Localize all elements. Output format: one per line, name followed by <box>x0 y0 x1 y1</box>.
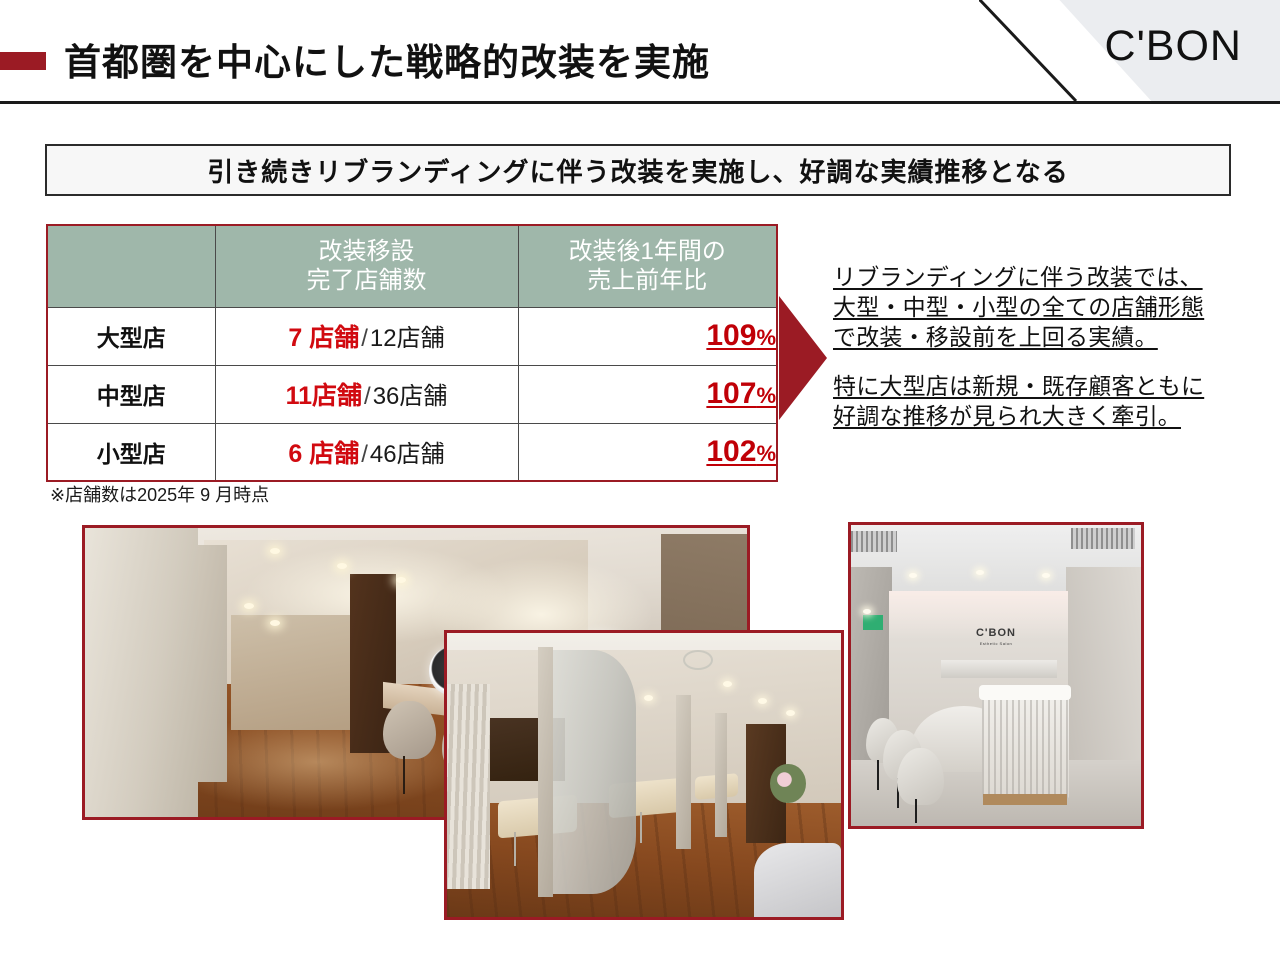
annotation-p2-line2: 好調な推移が見られ大きく牽引。 <box>833 402 1245 432</box>
table-row: 小型店 6 店舗/46店舗 102% <box>47 423 777 481</box>
table-header-blank <box>47 225 215 307</box>
photo-treatment-room-partitions <box>444 630 844 920</box>
annotation-p1-line1: リブランディングに伴う改装では、 <box>833 263 1245 293</box>
bed-leg <box>514 832 516 866</box>
completed-count: 7 店舗 <box>288 324 359 352</box>
completed-count: 11店舗 <box>286 382 362 410</box>
ceiling-light <box>786 710 795 716</box>
total-count: 46店舗 <box>370 441 445 468</box>
count-separator: / <box>362 383 373 410</box>
photo-scene <box>447 633 841 917</box>
yoy-value: 102% <box>706 440 776 466</box>
header-divider <box>0 101 1280 104</box>
partition-column <box>715 713 727 838</box>
row-count-small: 6 店舗/46店舗 <box>215 423 518 481</box>
cbon-logo: C'BON <box>1105 22 1242 71</box>
table-header-completed-stores: 改装移設 完了店舗数 <box>215 225 518 307</box>
row-label-medium: 中型店 <box>47 365 215 423</box>
table-row: 中型店 11店舗/36店舗 107% <box>47 365 777 423</box>
annotation-p2-line1: 特に大型店は新規・既存顧客ともに <box>833 372 1245 402</box>
yoy-value: 109% <box>706 324 776 350</box>
right-arrow-icon <box>779 296 827 420</box>
window-curtain <box>447 684 490 888</box>
header-line-1: 改装移設 <box>216 237 518 266</box>
row-label-small: 小型店 <box>47 423 215 481</box>
row-label-large: 大型店 <box>47 307 215 365</box>
ceiling-vent <box>851 531 897 552</box>
logo-panel-diagonal-edge <box>979 0 1079 103</box>
wall-logo-subtext: Esthetic Salon <box>976 641 1016 646</box>
header-line-2: 完了店舗数 <box>216 266 518 295</box>
store-renovation-table: 改装移設 完了店舗数 改装後1年間の 売上前年比 大型店 7 店舗/12店舗 1… <box>46 224 778 482</box>
row-pct-medium: 107% <box>518 365 777 423</box>
total-count: 12店舗 <box>370 325 445 352</box>
chair-leg <box>915 799 917 823</box>
ceiling-light <box>337 563 347 569</box>
row-pct-large: 109% <box>518 307 777 365</box>
reception-desk <box>982 688 1069 799</box>
annotation-block: リブランディングに伴う改装では、 大型・中型・小型の全ての店舗形態 で改装・移設… <box>833 263 1245 431</box>
salon-chair <box>383 701 436 759</box>
slide-header: C'BON 首都圏を中心にした戦略的改装を実施 <box>0 0 1280 104</box>
bed-leg <box>640 812 642 843</box>
table-header-yoy-sales: 改装後1年間の 売上前年比 <box>518 225 777 307</box>
count-separator: / <box>359 325 370 352</box>
mid-pillar <box>198 545 228 782</box>
yoy-value: 107% <box>706 382 776 408</box>
chair-leg <box>403 756 405 794</box>
header-line-1: 改装後1年間の <box>519 237 777 266</box>
wall-logo: C'BON Esthetic Salon <box>976 627 1016 646</box>
yoy-number: 102 <box>706 435 756 468</box>
wall-logo-text: C'BON <box>976 627 1016 639</box>
lounge-chair <box>897 748 943 805</box>
partition-column <box>538 647 554 897</box>
header-line-2: 売上前年比 <box>519 266 777 295</box>
table-row: 大型店 7 店舗/12店舗 109% <box>47 307 777 365</box>
right-wall <box>1066 567 1141 790</box>
photo-reception-counter: C'BON Esthetic Salon <box>848 522 1144 829</box>
annotation-p1-line3: で改装・移設前を上回る実績。 <box>833 323 1245 353</box>
foreground-pillar <box>85 528 198 817</box>
reception-desk-top <box>979 685 1072 700</box>
completed-count: 6 店舗 <box>288 440 359 468</box>
waiting-chairs <box>754 843 841 917</box>
title-accent-bar <box>0 52 46 70</box>
ceiling-light <box>976 570 984 575</box>
ceiling-vent <box>1071 528 1135 549</box>
total-count: 36店舗 <box>373 383 448 410</box>
photo-scene: C'BON Esthetic Salon <box>851 525 1141 826</box>
yoy-percent-sign: % <box>756 383 776 408</box>
row-pct-small: 102% <box>518 423 777 481</box>
frosted-partition <box>549 650 636 894</box>
subtitle-banner: 引き続きリブランディングに伴う改装を実施し、好調な実績推移となる <box>45 144 1231 196</box>
count-separator: / <box>359 441 370 468</box>
yoy-percent-sign: % <box>756 441 776 466</box>
yoy-number: 109 <box>706 319 756 352</box>
annotation-p1-line2: 大型・中型・小型の全ての店舗形態 <box>833 293 1245 323</box>
subtitle-text: 引き続きリブランディングに伴う改装を実施し、好調な実績推移となる <box>207 152 1068 189</box>
reception-desk-base <box>983 794 1067 805</box>
flower-arrangement <box>770 764 805 804</box>
table-head: 改装移設 完了店舗数 改装後1年間の 売上前年比 <box>47 225 777 307</box>
table-body: 大型店 7 店舗/12店舗 109% 中型店 11店舗/36店舗 107% 小型… <box>47 307 777 481</box>
wall-shelf <box>941 660 1057 678</box>
table-header-row: 改装移設 完了店舗数 改装後1年間の 売上前年比 <box>47 225 777 307</box>
yoy-percent-sign: % <box>756 325 776 350</box>
chair-leg <box>877 760 879 790</box>
yoy-number: 107 <box>706 377 756 410</box>
table-footnote: ※店舗数は2025年 9 月時点 <box>50 481 269 507</box>
row-count-large: 7 店舗/12店舗 <box>215 307 518 365</box>
corridor-opening <box>231 615 350 731</box>
row-count-medium: 11店舗/36店舗 <box>215 365 518 423</box>
exit-sign-icon <box>863 615 883 630</box>
annotation-spacer <box>833 353 1245 372</box>
page-title: 首都圏を中心にした戦略的改装を実施 <box>64 32 710 86</box>
partition-column <box>676 695 692 848</box>
